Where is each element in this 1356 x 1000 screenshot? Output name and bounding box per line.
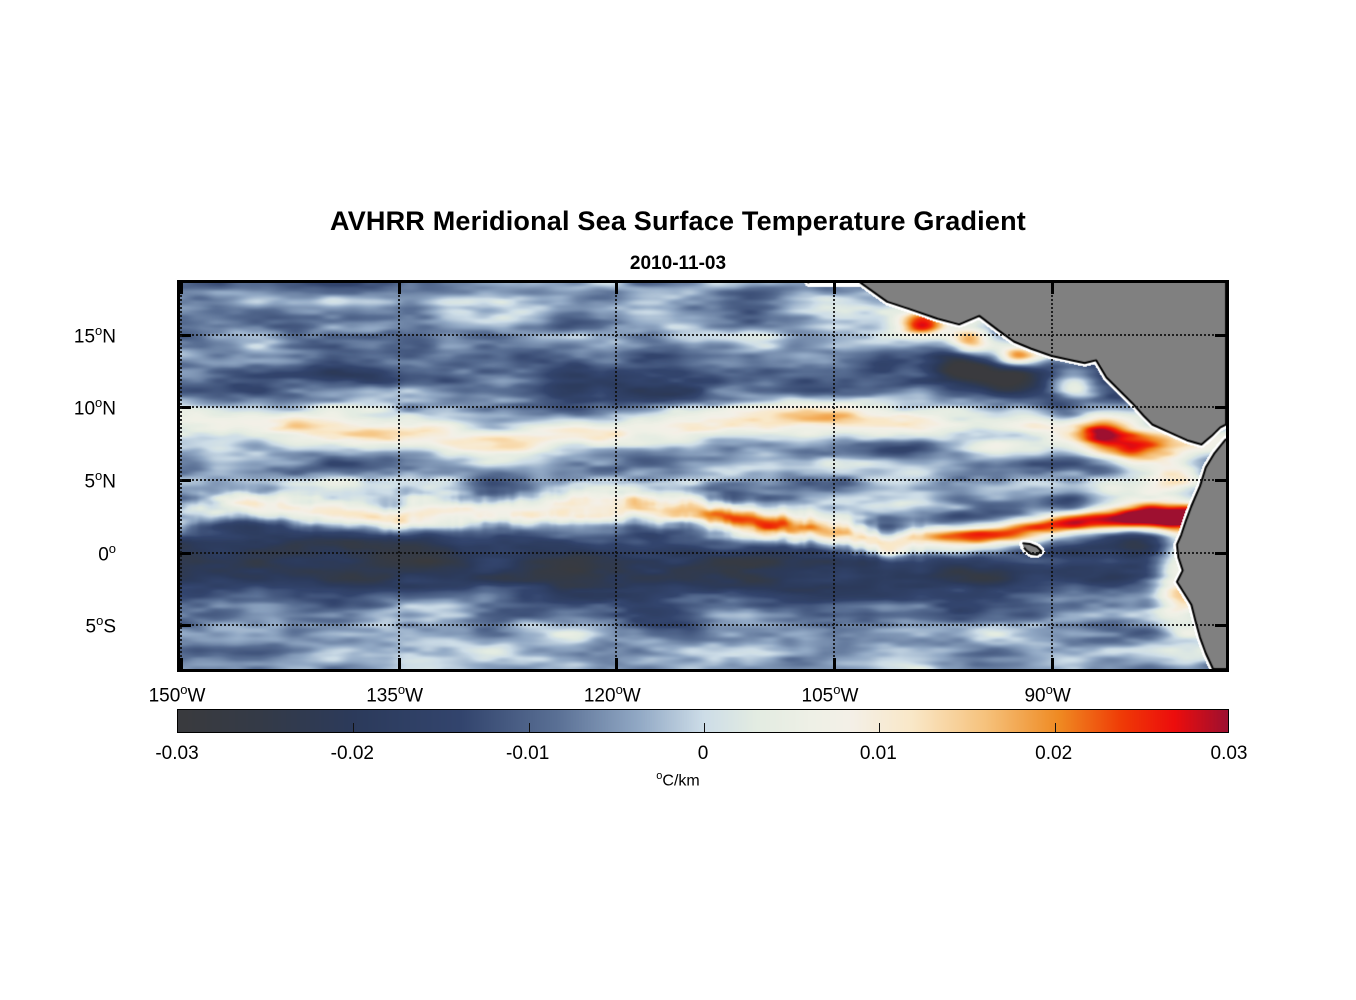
y-axis-tick-label: 5oS [0, 611, 116, 636]
y-tick-right [1215, 624, 1226, 627]
gridline-lat [180, 406, 1226, 408]
chart-subtitle: 2010-11-03 [0, 253, 1356, 275]
colorbar-tick-label: -0.01 [468, 744, 588, 763]
x-tick-bottom [1051, 658, 1054, 669]
gridline-lon [615, 283, 617, 669]
colorbar-unit-label: oC/km [0, 770, 1356, 790]
gridline-lat [180, 334, 1226, 336]
x-tick-bottom [615, 658, 618, 669]
colorbar-tick-label: -0.03 [117, 744, 237, 763]
gridline-lat [180, 479, 1226, 481]
x-axis-tick-label: 120oW [542, 680, 682, 705]
y-axis-tick-label: 0o [0, 539, 116, 564]
colorbar-tick-label: 0.01 [818, 744, 938, 763]
y-tick-right [1215, 479, 1226, 482]
x-axis-tick-label: 105oW [760, 680, 900, 705]
map-axes [177, 280, 1229, 672]
x-axis-tick-label: 150oW [107, 680, 247, 705]
y-tick-right [1215, 552, 1226, 555]
colorbar-tick-label: 0.03 [1169, 744, 1289, 763]
colorbar-tick-label: 0.02 [994, 744, 1114, 763]
x-tick-top [180, 283, 183, 294]
colorbar-tick [879, 723, 880, 732]
gridline-lon [1051, 283, 1053, 669]
x-tick-top [1051, 283, 1054, 294]
x-axis-tick-label: 90oW [978, 680, 1118, 705]
x-axis-tick-label: 135oW [325, 680, 465, 705]
y-tick-right [1215, 334, 1226, 337]
x-tick-top [398, 283, 401, 294]
y-tick-right [1215, 406, 1226, 409]
x-tick-top [833, 283, 836, 294]
y-axis-tick-label: 15oN [0, 321, 116, 346]
gridline-lon [180, 283, 182, 669]
colorbar-tick [1055, 723, 1056, 732]
colorbar-tick [529, 723, 530, 732]
figure-canvas: AVHRR Meridional Sea Surface Temperature… [0, 0, 1356, 1000]
x-tick-bottom [398, 658, 401, 669]
colorbar-gradient [177, 709, 1229, 733]
gridline-lat [180, 624, 1226, 626]
gridline-lon [398, 283, 400, 669]
y-axis-tick-label: 5oN [0, 466, 116, 491]
colorbar-tick [353, 723, 354, 732]
colorbar-tick-label: -0.02 [292, 744, 412, 763]
x-tick-top [615, 283, 618, 294]
x-tick-bottom [180, 658, 183, 669]
sst-gradient-heatmap [180, 283, 1226, 669]
y-axis-tick-label: 10oN [0, 393, 116, 418]
colorbar-tick [704, 723, 705, 732]
gridline-lon [833, 283, 835, 669]
colorbar-tick-label: 0 [643, 744, 763, 763]
gridline-lat [180, 552, 1226, 554]
x-tick-bottom [833, 658, 836, 669]
page-title: AVHRR Meridional Sea Surface Temperature… [0, 206, 1356, 237]
colorbar [177, 709, 1229, 733]
